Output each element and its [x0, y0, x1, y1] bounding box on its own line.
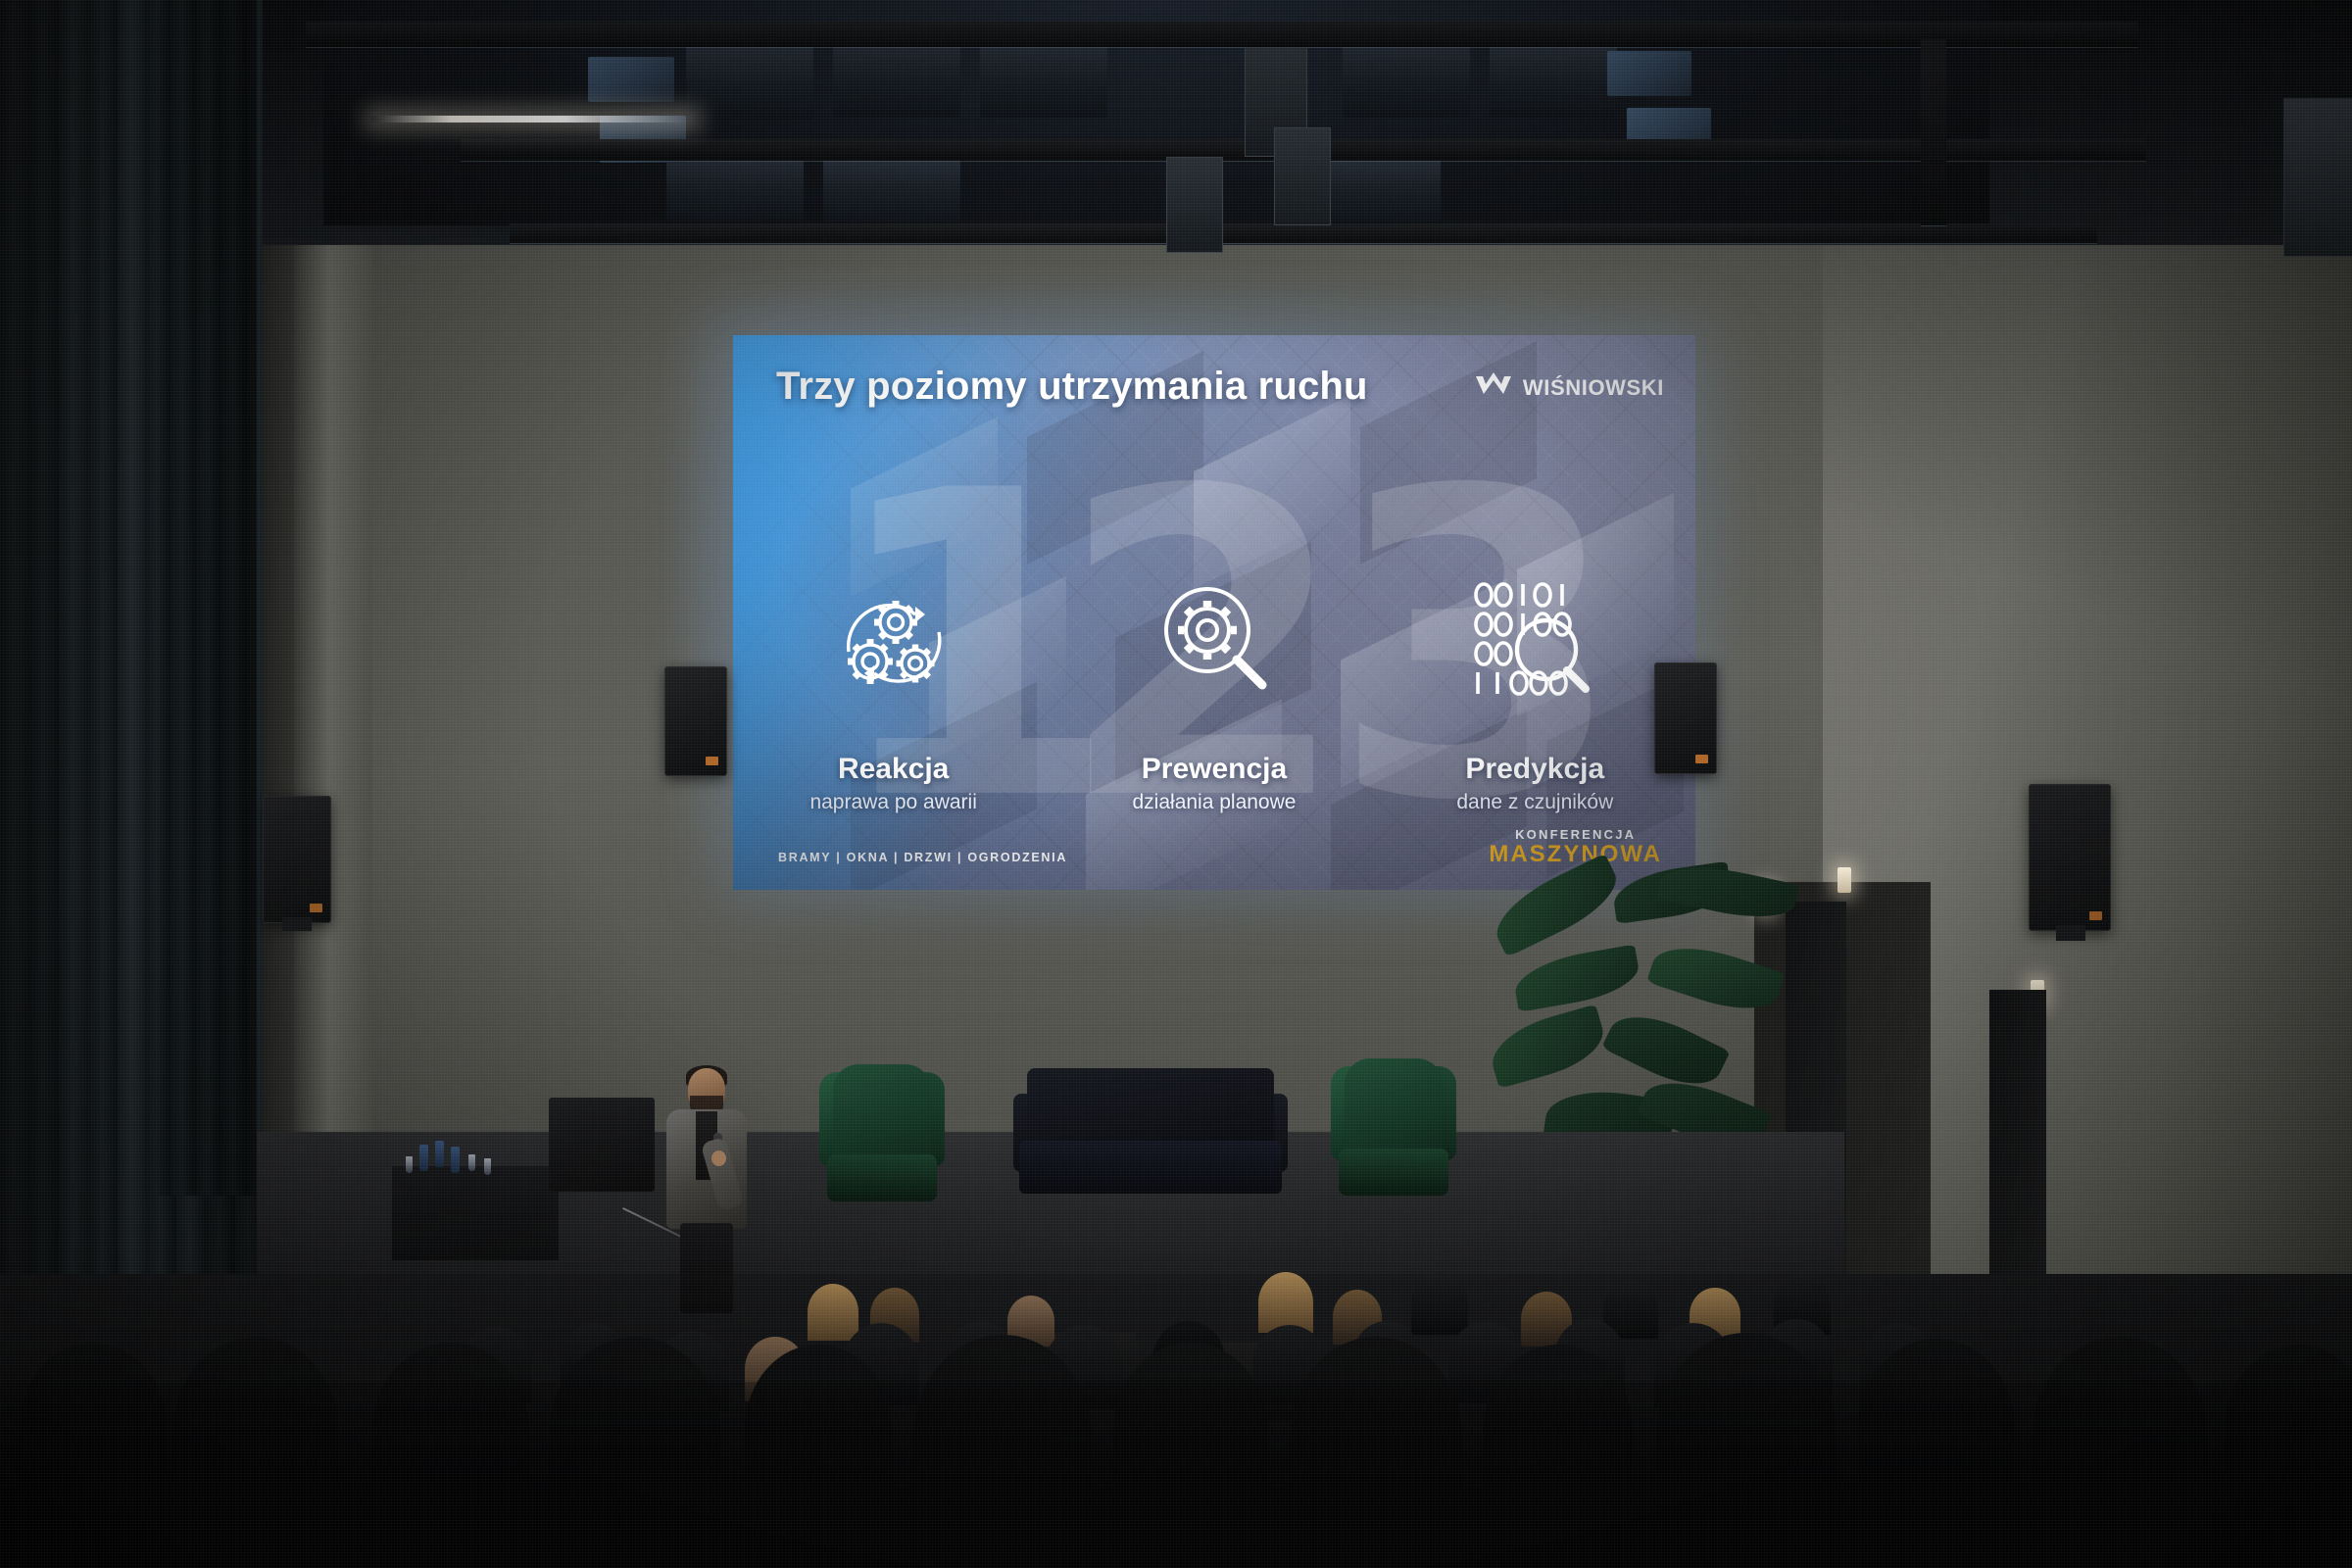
plant-leaf: [1485, 1004, 1611, 1089]
auditorium-floor: [0, 1274, 2352, 1568]
ceiling-beam: [510, 223, 2097, 243]
jbl-badge-icon: [2089, 911, 2102, 920]
jbl-badge-icon: [706, 757, 718, 765]
projection-screen: 1 2 3 Trzy poziomy utrzymania ruchu WIŚN…: [733, 335, 1695, 890]
presenter: [659, 1068, 753, 1313]
plant-leaf: [1646, 934, 1786, 1022]
sofa-seat: [1019, 1141, 1282, 1194]
screen-vignette: [733, 335, 1695, 890]
doorway-far-right: [1989, 990, 2046, 1294]
wall-light: [1837, 867, 1851, 893]
plant-leaf: [1485, 854, 1627, 957]
water-bottle: [419, 1145, 428, 1171]
led-strip-light: [370, 116, 694, 122]
plant-leaf: [1511, 945, 1642, 1012]
conference-hall-photo: 1 2 3 Trzy poziomy utrzymania ruchu WIŚN…: [0, 0, 2352, 1568]
speaker-mount: [2056, 925, 2085, 941]
drinking-glass: [468, 1154, 475, 1171]
ceiling-vent: [588, 57, 674, 102]
stage-monitor-speaker: [549, 1098, 655, 1192]
side-table: [392, 1166, 559, 1260]
wall-window: [1166, 157, 1223, 253]
jbl-badge-icon: [1695, 755, 1708, 763]
sofa-back: [1027, 1068, 1274, 1151]
wall-speaker-stage-left: [664, 666, 727, 776]
speaker-mount: [282, 917, 312, 931]
armchair-left: [819, 1064, 945, 1211]
jbl-badge-icon: [310, 904, 322, 912]
drinking-glass: [484, 1158, 491, 1175]
wall-speaker-left: [263, 796, 331, 923]
ceiling-vent: [1607, 51, 1691, 96]
armchair-seat: [827, 1154, 937, 1201]
armchair-seat: [1339, 1149, 1448, 1196]
armchair-right: [1331, 1058, 1456, 1205]
stage-sofa: [1013, 1068, 1288, 1198]
ceiling-beam: [306, 22, 2138, 47]
water-bottle: [435, 1141, 444, 1167]
wall-speaker-right: [2029, 784, 2111, 931]
wall-pillar: [294, 147, 372, 1303]
slide-surface: 1 2 3 Trzy poziomy utrzymania ruchu WIŚN…: [733, 335, 1695, 890]
wall-window: [1274, 127, 1331, 225]
ceiling-beam: [1921, 39, 1946, 225]
presenter-hand: [711, 1151, 726, 1166]
presenter-trousers: [680, 1223, 733, 1313]
wall-speaker-stage-right: [1654, 662, 1717, 774]
wall-window: [2283, 98, 2352, 257]
drinking-glass: [406, 1156, 413, 1173]
water-bottle: [451, 1147, 460, 1173]
